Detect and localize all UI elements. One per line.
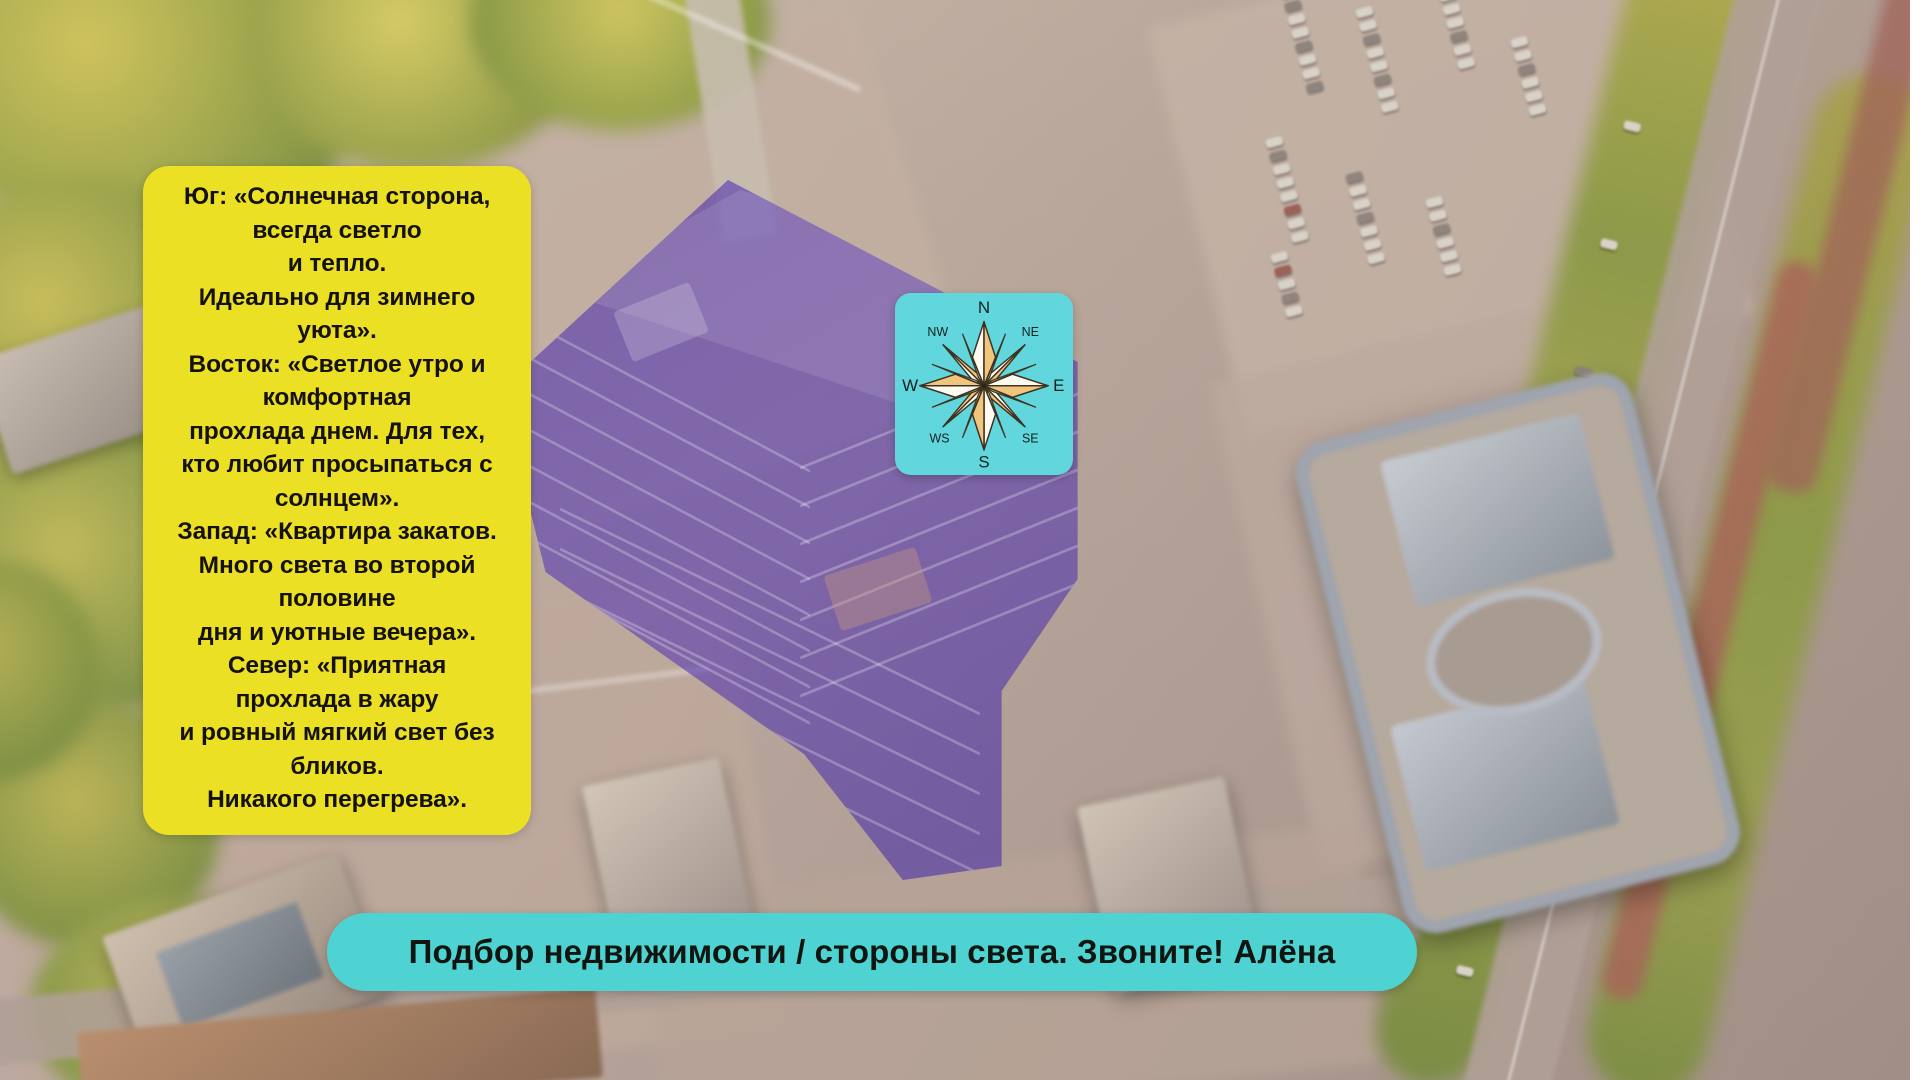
card-line: Север: «Приятная — [159, 649, 515, 683]
card-line: кто любит просыпаться с — [159, 448, 515, 482]
card-line: дня и уютные вечера». — [159, 616, 515, 650]
card-line: Никакого перегрева». — [159, 783, 515, 817]
card-line: прохлада в жару — [159, 683, 515, 717]
compass-rose-box: N NE E SE S WS W NW — [895, 293, 1073, 475]
contact-call-to-action-banner[interactable]: Подбор недвижимости / стороны света. Зво… — [327, 913, 1417, 991]
page-right-margin — [1910, 0, 1920, 1080]
card-line: Юг: «Солнечная сторона, — [159, 180, 515, 214]
card-line: солнцем». — [159, 482, 515, 516]
compass-label-southwest: WS — [929, 432, 949, 446]
compass-label-west: W — [902, 376, 918, 395]
card-line: и ровный мягкий свет без — [159, 716, 515, 750]
card-line: Запад: «Квартира закатов. — [159, 515, 515, 549]
card-line: бликов. — [159, 750, 515, 784]
compass-label-east: E — [1053, 376, 1064, 395]
compass-label-northeast: NE — [1022, 325, 1039, 339]
card-line: Восток: «Светлое утро и — [159, 348, 515, 382]
card-line: всегда светло — [159, 214, 515, 248]
card-line: Много света во второй — [159, 549, 515, 583]
poster-canvas: Юг: «Солнечная сторона, всегда светло и … — [0, 0, 1920, 1080]
compass-rose-icon: N NE E SE S WS W NW — [895, 293, 1073, 475]
compass-label-southeast: SE — [1022, 432, 1039, 446]
directions-description-card: Юг: «Солнечная сторона, всегда светло и … — [143, 166, 531, 835]
banner-text: Подбор недвижимости / стороны света. Зво… — [409, 933, 1336, 971]
card-line: комфортная — [159, 381, 515, 415]
card-line: прохлада днем. Для тех, — [159, 415, 515, 449]
compass-label-northwest: NW — [927, 325, 948, 339]
card-line: уюта». — [159, 314, 515, 348]
card-line: половине — [159, 582, 515, 616]
compass-label-south: S — [978, 453, 989, 472]
card-line: и тепло. — [159, 247, 515, 281]
compass-label-north: N — [978, 298, 990, 317]
card-line: Идеально для зимнего — [159, 281, 515, 315]
